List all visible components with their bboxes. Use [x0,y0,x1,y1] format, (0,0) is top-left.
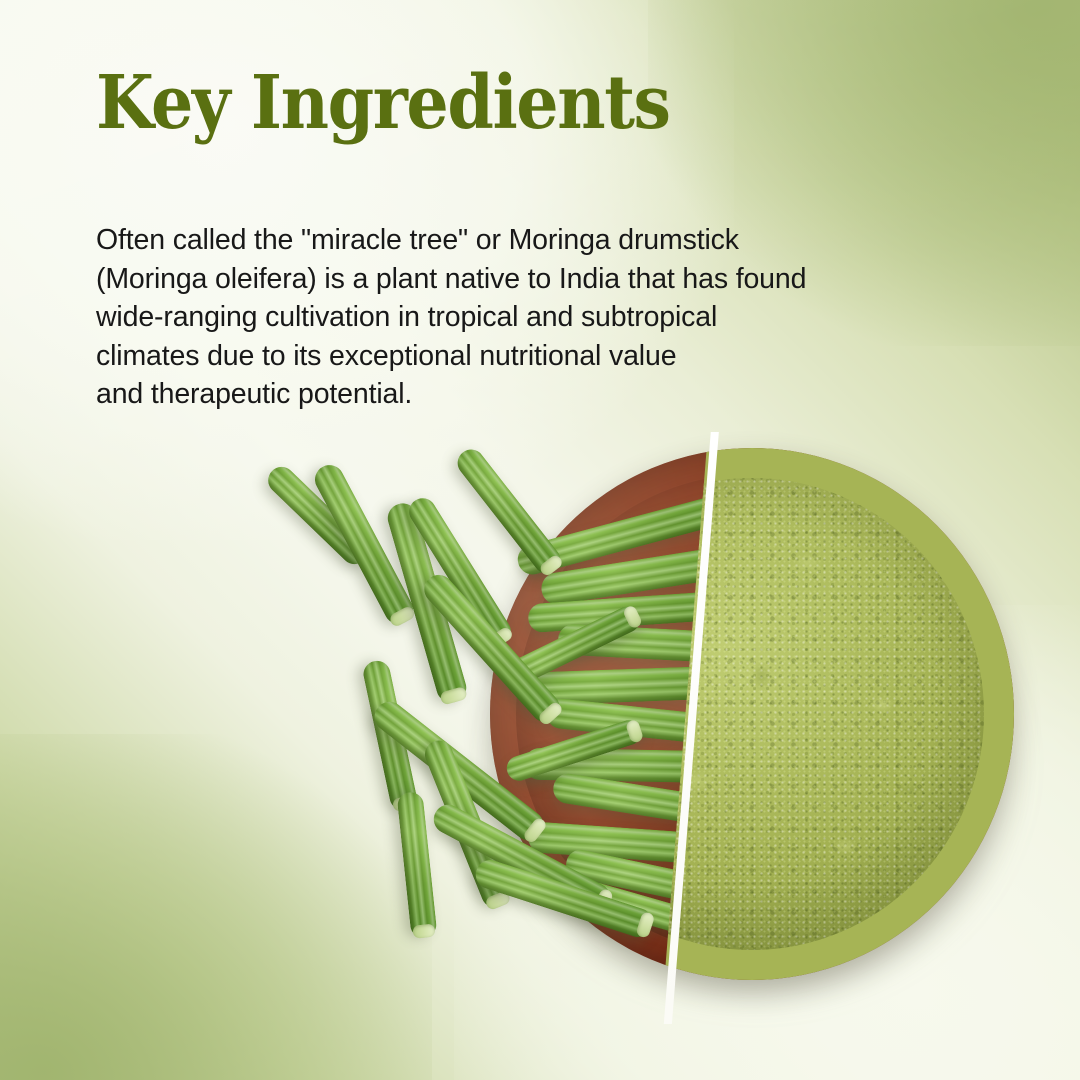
poster-canvas: Key Ingredients Often called the "miracl… [0,0,1080,1080]
body-paragraph: Often called the "miracle tree" or Morin… [96,221,1036,414]
pod [452,444,566,579]
ingredient-composite-image [228,438,1038,1018]
pod [396,791,437,939]
page-title: Key Ingredients [96,66,670,140]
loose-drumstick-pods [228,438,1038,1018]
